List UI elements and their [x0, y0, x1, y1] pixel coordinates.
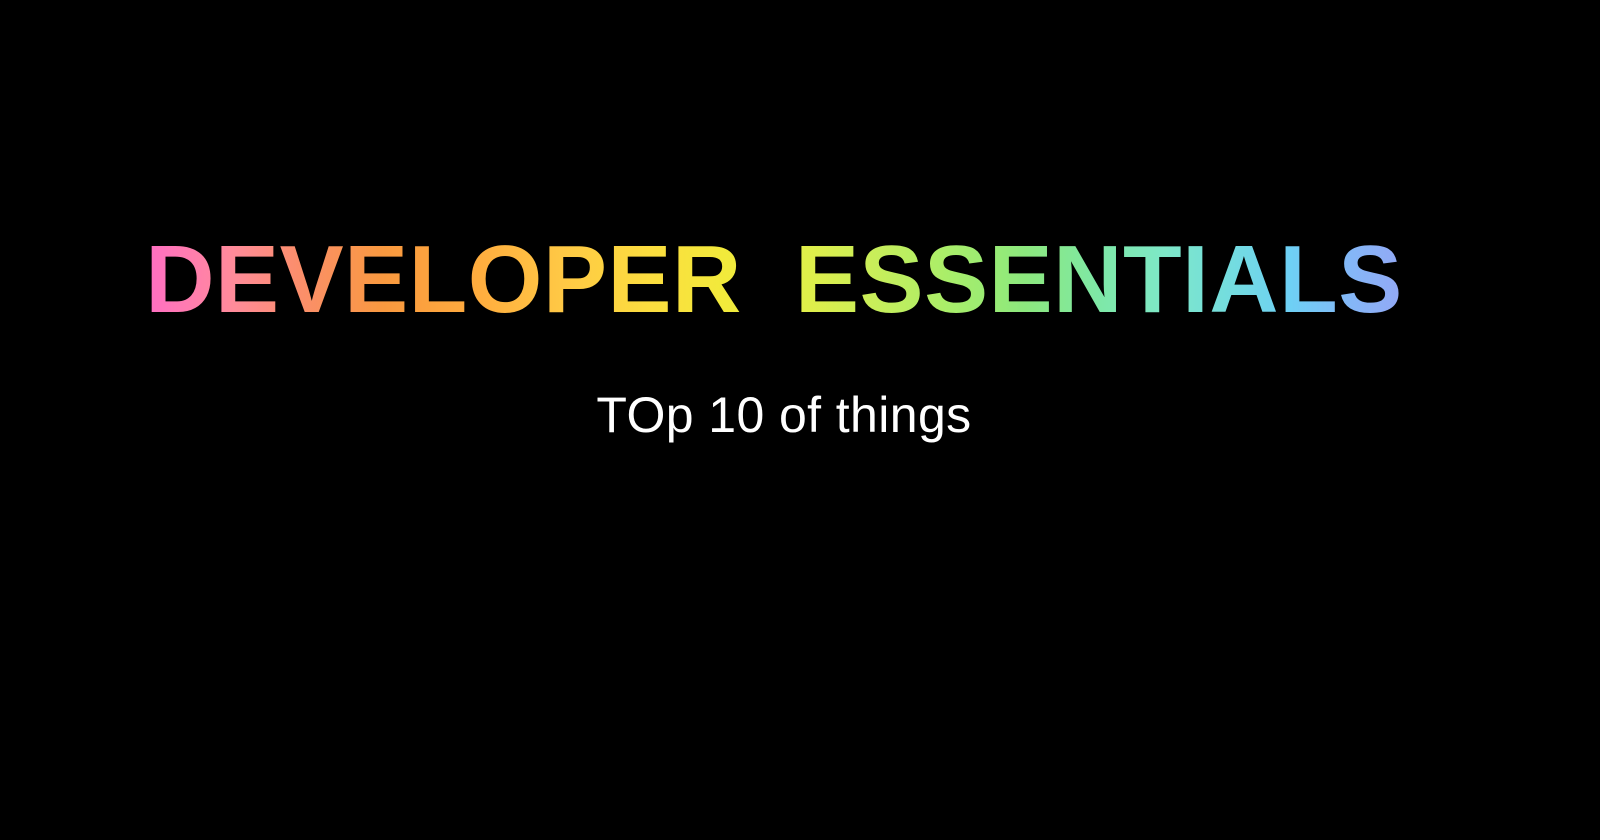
- presentation-slide: DEVELOPER ESSENTIALS TOp 10 of things: [0, 0, 1600, 840]
- page-title: DEVELOPER ESSENTIALS: [145, 228, 1403, 332]
- page-subtitle: TOp 10 of things: [596, 386, 971, 444]
- title-block: DEVELOPER ESSENTIALS TOp 10 of things: [0, 0, 1600, 840]
